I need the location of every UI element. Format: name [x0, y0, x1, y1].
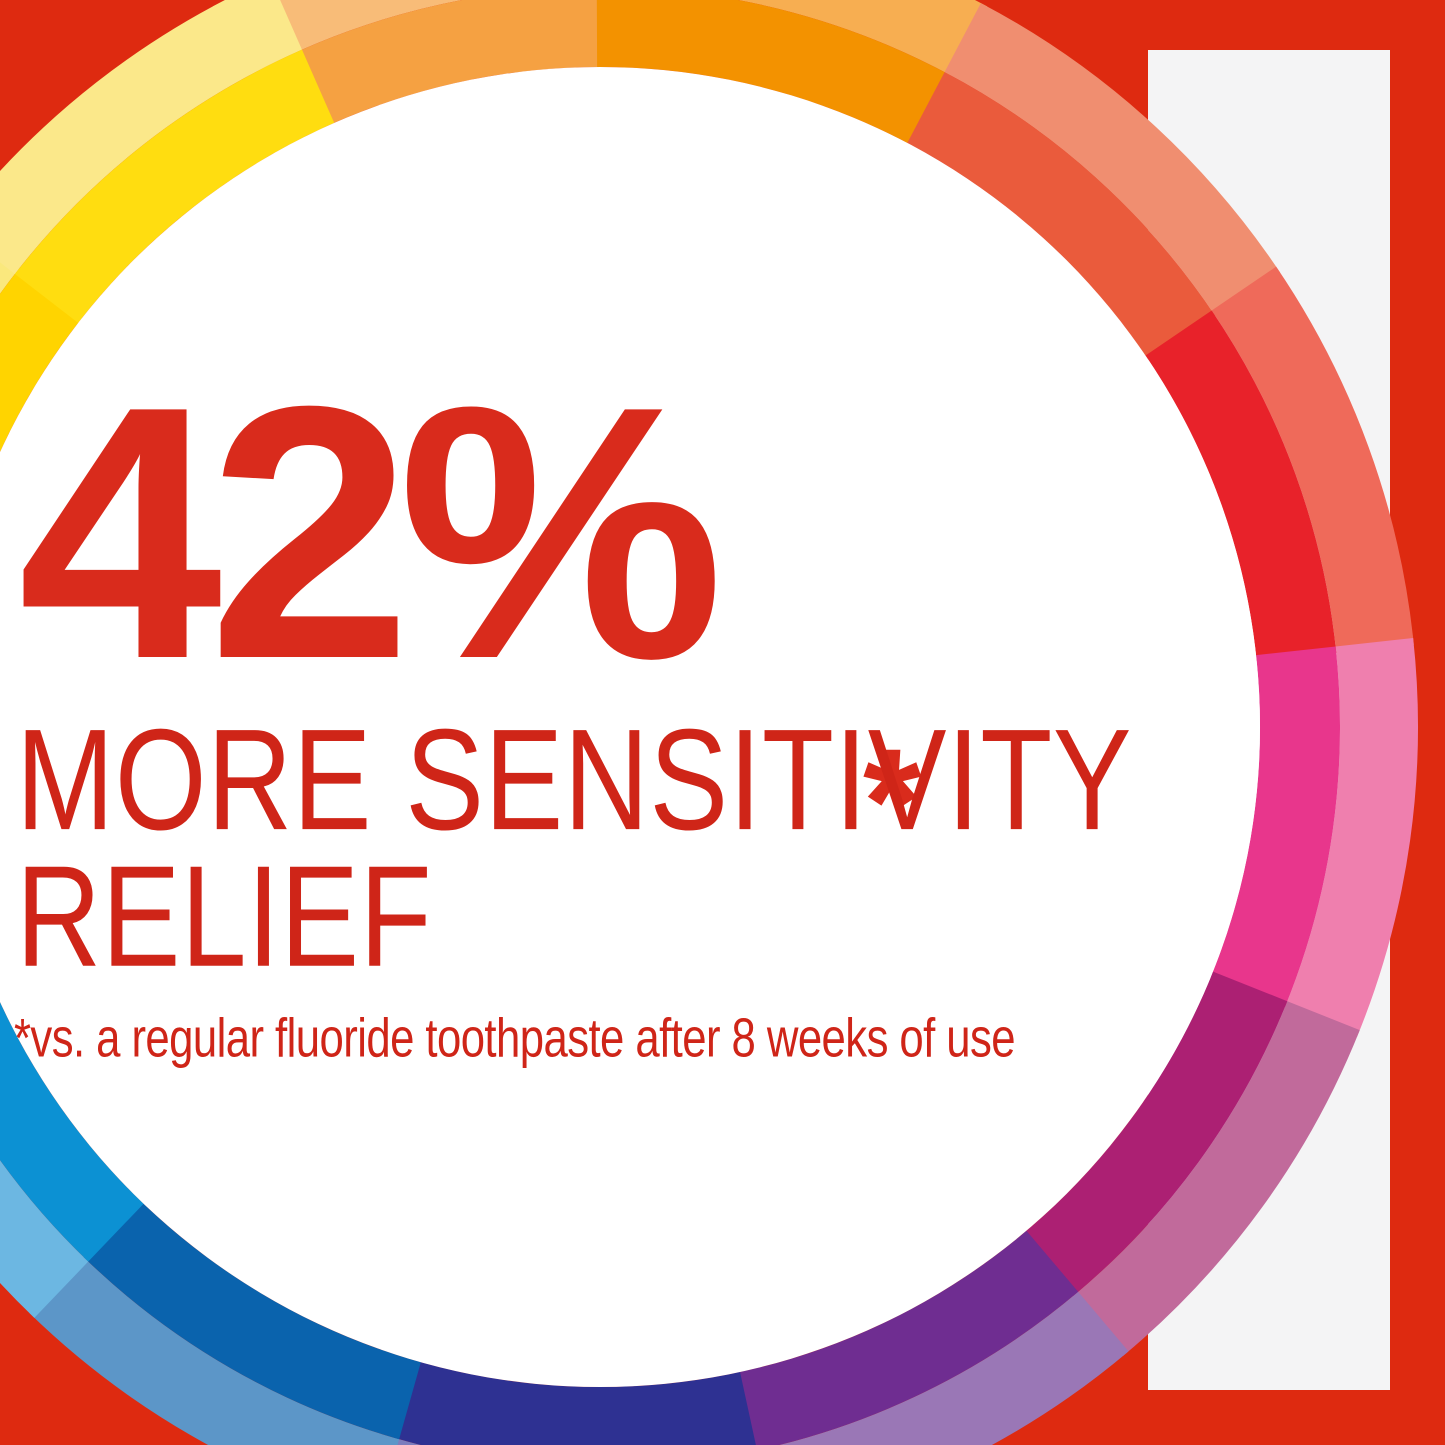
background-artwork [0, 0, 1445, 1445]
white-disc [0, 67, 1260, 1387]
marketing-graphic: 42% * MORE SENSITIVITY RELIEF *vs. a reg… [0, 0, 1445, 1445]
